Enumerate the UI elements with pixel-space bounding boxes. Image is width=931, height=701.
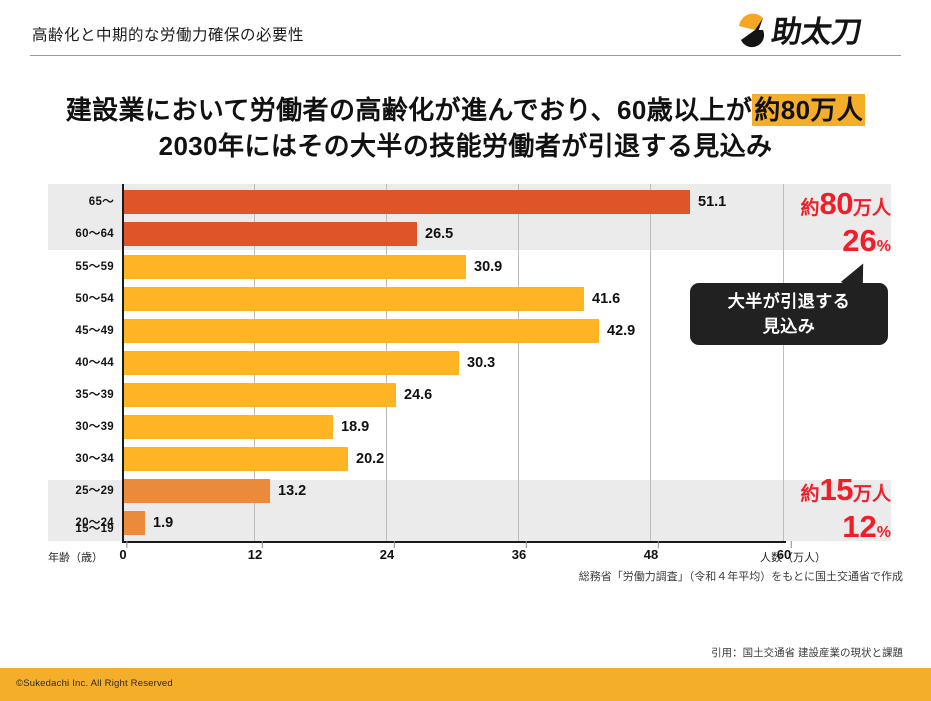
bar-30-34	[124, 447, 348, 471]
row-label: 55〜59	[48, 252, 114, 282]
annotation-number: 80	[820, 186, 853, 221]
row-label: 15〜19	[48, 514, 114, 544]
svg-text:助太刀: 助太刀	[769, 15, 864, 50]
row-label: 45〜49	[48, 316, 114, 346]
bar-value: 26.5	[425, 219, 453, 249]
bar-30-39	[124, 415, 333, 439]
annotation-senior-count: 約80万人	[731, 188, 891, 219]
bar-value: 42.9	[607, 316, 635, 346]
row-label: 60〜64	[48, 219, 114, 249]
bar-50-54	[124, 287, 584, 311]
annotation-unit: 万人	[853, 484, 891, 505]
bar-20-24	[124, 511, 145, 535]
annotation-percent-value: 26	[842, 223, 876, 258]
annotation-senior: 約80万人 26%	[731, 188, 891, 256]
annotation-senior-percent: 26%	[731, 225, 891, 256]
x-tick-mark	[127, 541, 128, 548]
bar-value: 30.9	[474, 252, 502, 282]
slide-title: 建設業において労働者の高齢化が進んでおり、60歳以上が約80万人 2030年には…	[0, 92, 931, 164]
annotation-percent-value: 12	[842, 509, 876, 544]
gridline-48	[650, 184, 651, 542]
annotation-prefix: 約	[800, 484, 819, 505]
callout-line-2: 見込み	[690, 314, 888, 339]
x-tick: 12	[248, 547, 262, 562]
x-tick-mark	[791, 541, 792, 548]
row-label: 30〜39	[48, 412, 114, 442]
annotation-unit: 万人	[853, 198, 891, 219]
slide-title-line-2: 2030年にはその大半の技能労働者が引退する見込み	[0, 128, 931, 164]
annotation-percent-sign: %	[877, 524, 891, 541]
sukedachi-logo: 助太刀	[733, 10, 911, 50]
x-tick: 36	[512, 547, 526, 562]
bar-40-44	[124, 351, 459, 375]
bar-value: 20.2	[356, 444, 384, 474]
bar-value: 51.1	[698, 187, 726, 217]
x-axis-ticks: 年齢（歳） 0 12 24 36 48 60 人数（万人）	[48, 543, 891, 565]
bar-value: 30.3	[467, 348, 495, 378]
x-tick: 24	[380, 547, 394, 562]
annotation-young-count: 約15万人	[731, 474, 891, 505]
annotation-number: 15	[820, 472, 853, 507]
annotation-percent-sign: %	[877, 238, 891, 255]
x-axis-caption: 人数（万人）	[760, 549, 826, 565]
bar-65-plus	[124, 190, 690, 214]
annotation-young: 約15万人 12%	[731, 474, 891, 542]
bar-25-29	[124, 479, 270, 503]
copyright-text: ©Sukedachi Inc. All Right Reserved	[16, 678, 173, 689]
callout-line-1: 大半が引退する	[690, 289, 888, 314]
y-axis-caption: 年齢（歳）	[48, 549, 103, 565]
bar-55-59	[124, 255, 466, 279]
row-label: 50〜54	[48, 284, 114, 314]
x-tick-mark	[262, 541, 263, 548]
bar-value: 13.2	[278, 476, 306, 506]
x-tick: 0	[119, 547, 126, 562]
row-label: 30〜34	[48, 444, 114, 474]
source-note: 総務省「労働力調査」（令和４年平均）をもとに国土交通省で作成	[0, 568, 903, 584]
slide-title-highlight: 約80万人	[752, 94, 865, 126]
bar-45-49	[124, 319, 599, 343]
row-label: 40〜44	[48, 348, 114, 378]
bar-value: 18.9	[341, 412, 369, 442]
bar-35-39	[124, 383, 396, 407]
x-tick-mark	[526, 541, 527, 548]
gridline-36	[518, 184, 519, 542]
annotation-young-percent: 12%	[731, 511, 891, 542]
slide-title-line-1-text: 建設業において労働者の高齢化が進んでおり、60歳以上が	[66, 95, 753, 125]
footer-bar: ©Sukedachi Inc. All Right Reserved	[0, 668, 931, 701]
header-title: 高齢化と中期的な労働力確保の必要性	[32, 23, 304, 45]
bar-60-64	[124, 222, 417, 246]
row-label: 35〜39	[48, 380, 114, 410]
x-tick: 48	[644, 547, 658, 562]
row-label: 65〜	[48, 187, 114, 217]
row-label: 25〜29	[48, 476, 114, 506]
x-tick-mark	[658, 541, 659, 548]
bar-value: 41.6	[592, 284, 620, 314]
citation-note: 引用：国土交通省 建設産業の現状と課題	[0, 645, 903, 660]
x-tick-mark	[394, 541, 395, 548]
header-divider	[30, 55, 901, 56]
bar-value: 1.9	[153, 508, 173, 538]
slide-title-line-1: 建設業において労働者の高齢化が進んでおり、60歳以上が約80万人	[0, 92, 931, 128]
annotation-prefix: 約	[800, 198, 819, 219]
bar-value: 24.6	[404, 380, 432, 410]
age-distribution-chart: 65〜 51.1 60〜64 26.5 55〜59 30.9 50〜54 41.…	[48, 184, 891, 546]
retirement-callout: 大半が引退する 見込み	[690, 283, 888, 345]
